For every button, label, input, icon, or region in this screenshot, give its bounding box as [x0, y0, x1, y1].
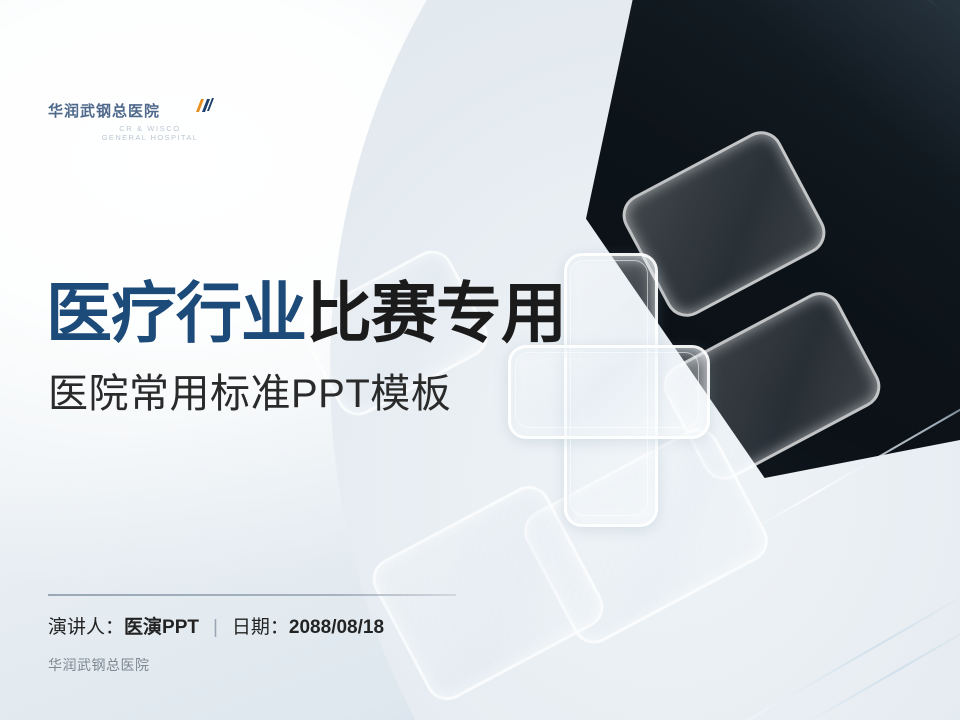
logo-english-line-1: CR & WISCO [48, 124, 238, 133]
meta-separator: | [213, 615, 218, 642]
date-value: 2088/08/18 [289, 617, 384, 638]
logo-slash-mark-icon [192, 98, 214, 114]
presentation-meta: 演讲人：医演PPT|日期：2088/08/18 [48, 615, 384, 642]
organization-name: 华润武钢总医院 [48, 655, 150, 675]
title-segment-dark: 比赛专用 [306, 276, 566, 350]
page-subtitle: 医院常用标准PPT模板 [48, 374, 451, 414]
title-slide: 华润武钢总医院 CR & WISCO GENERAL HOSPITAL 医疗行业… [0, 0, 960, 720]
hospital-logo: 华润武钢总医院 CR & WISCO GENERAL HOSPITAL [48, 104, 238, 156]
presenter-value: 医演PPT [124, 617, 199, 638]
title-segment-blue: 医疗行业 [46, 276, 306, 350]
page-title: 医疗行业比赛专用 [46, 280, 566, 346]
date-label: 日期： [232, 617, 289, 638]
presenter-label: 演讲人： [48, 617, 124, 638]
footer-divider [48, 594, 456, 596]
logo-english-line-2: GENERAL HOSPITAL [48, 133, 238, 142]
